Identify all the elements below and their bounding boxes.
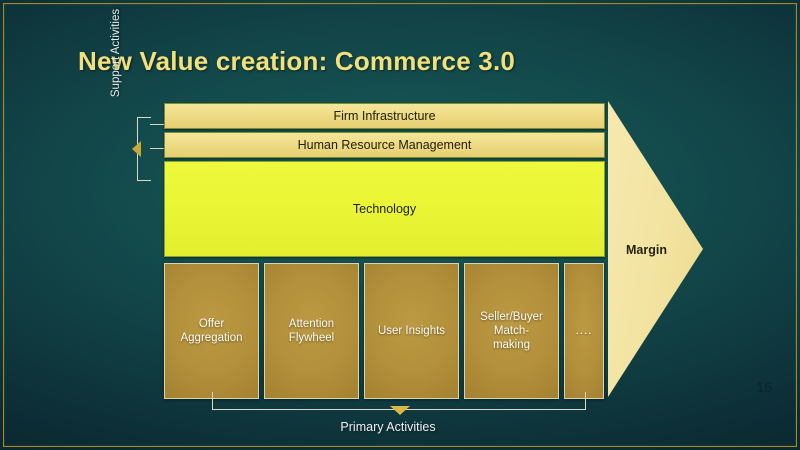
primary-activity-box[interactable]: Seller/BuyerMatch-making [464, 263, 559, 399]
value-chain: Firm Infrastructure Human Resource Manag… [164, 103, 605, 399]
support-band-technology[interactable]: Technology [164, 161, 605, 257]
primary-activities-axis-label: Primary Activities [0, 420, 800, 434]
primary-activity-label: OfferAggregation [180, 317, 242, 345]
primary-activity-box-more[interactable]: .... [564, 263, 604, 399]
primary-activities-row: OfferAggregation AttentionFlywheel User … [164, 263, 605, 399]
page-title: New Value creation: Commerce 3.0 [78, 46, 515, 77]
support-band-label: Firm Infrastructure [333, 109, 435, 123]
primary-activity-box[interactable]: AttentionFlywheel [264, 263, 359, 399]
primary-activity-label: User Insights [378, 324, 445, 338]
support-band-human-resource-management[interactable]: Human Resource Management [164, 132, 605, 158]
primary-activity-box[interactable]: User Insights [364, 263, 459, 399]
support-band-label: Human Resource Management [298, 138, 472, 152]
support-band-firm-infrastructure[interactable]: Firm Infrastructure [164, 103, 605, 129]
slide-canvas: New Value creation: Commerce 3.0 Support… [0, 0, 800, 450]
support-activities-arrow-icon [132, 141, 141, 157]
primary-activity-label: .... [576, 324, 593, 338]
page-number: 15 [756, 379, 772, 395]
support-band-label: Technology [353, 202, 416, 216]
support-activities-axis-label: Support Activities [105, 0, 127, 118]
primary-activity-label: Seller/BuyerMatch-making [480, 310, 543, 352]
primary-activity-label: AttentionFlywheel [289, 317, 334, 345]
primary-activity-box[interactable]: OfferAggregation [164, 263, 259, 399]
primary-activities-arrow-icon [390, 406, 410, 415]
margin-label: Margin [626, 243, 667, 257]
primary-activities-axis-text: Primary Activities [340, 420, 435, 434]
